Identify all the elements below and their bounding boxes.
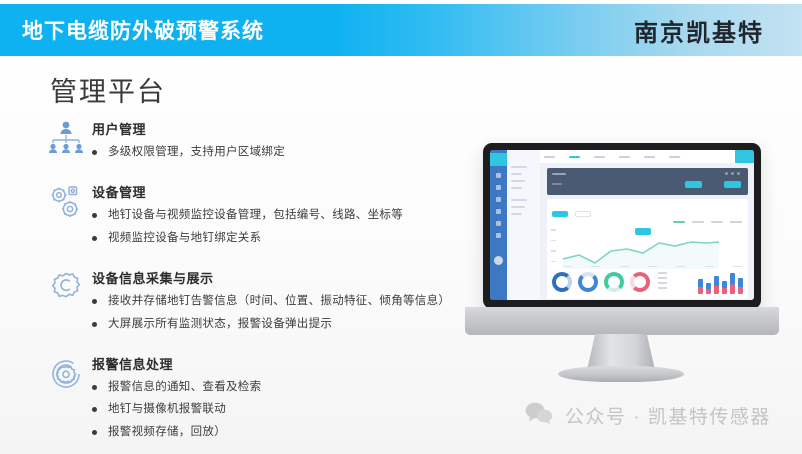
bullet-item: 地钉与摄像机报警联动 — [92, 402, 480, 416]
dashboard-banner — [547, 168, 748, 195]
topbar-title — [544, 156, 555, 158]
topbar-tab — [619, 156, 630, 158]
submenu-item — [511, 187, 522, 189]
sidebar-nav-icon — [496, 221, 501, 226]
banner-button — [724, 181, 741, 188]
submenu-item — [511, 213, 522, 215]
donut-chart — [578, 272, 598, 292]
submenu-item — [511, 180, 525, 182]
wechat-icon — [524, 401, 554, 430]
bullet-text: 地钉设备与视频监控设备管理，包括编号、线路、坐标等 — [108, 208, 403, 222]
chart-tab — [575, 211, 591, 217]
banner-line — [552, 183, 562, 185]
dashboard-submenu — [507, 150, 540, 300]
bullet-dot-icon — [92, 213, 97, 218]
sidebar-nav-icon — [496, 173, 501, 178]
bullet-item: 多级权限管理，支持用户区域绑定 — [92, 145, 480, 159]
monitor-chin — [465, 307, 779, 335]
bullet-dot-icon — [92, 407, 97, 412]
chart-y-axis — [551, 229, 556, 271]
feature-heading: 设备信息采集与展示 — [92, 268, 480, 287]
donut-chart — [604, 272, 624, 292]
dashboard-chart-card — [547, 199, 748, 299]
page-title: 管理平台 — [50, 70, 166, 109]
bullet-dot-icon — [92, 385, 97, 390]
kpi-legend — [658, 272, 667, 292]
sidebar-nav-icon — [496, 197, 501, 202]
chart-legend — [673, 221, 742, 223]
submenu-item — [511, 206, 525, 208]
slide-root: 地下电缆防外破预警系统 南京凯基特 管理平台 — [0, 0, 802, 454]
chart-tooltip — [635, 228, 651, 235]
feature-item-data-collection: 设备信息采集与展示 接收并存储地钉告警信息（时间、位置、振动特征、倾角等信息） … — [40, 267, 480, 339]
feature-body: 设备信息采集与展示 接收并存储地钉告警信息（时间、位置、振动特征、倾角等信息） … — [92, 267, 480, 339]
monitor-stand-base — [558, 366, 684, 382]
line-chart — [561, 229, 721, 269]
monitor-stand-neck — [587, 334, 655, 370]
banner-dots-icon — [725, 172, 740, 175]
sidebar-nav-icon — [496, 233, 501, 238]
single-gear-icon — [40, 267, 92, 313]
bullet-text: 多级权限管理，支持用户区域绑定 — [108, 145, 285, 159]
dashboard-main — [540, 150, 754, 300]
submenu-item — [511, 199, 527, 201]
header-brand: 南京凯基特 — [634, 13, 764, 48]
feature-body: 设备管理 地钉设备与视频监控设备管理，包括编号、线路、坐标等 视频监控设备与地钉… — [92, 181, 480, 253]
bullet-item: 接收并存储地钉告警信息（时间、位置、振动特征、倾角等信息） — [92, 294, 480, 308]
bullet-item: 视频监控设备与地钉绑定关系 — [92, 231, 480, 245]
bullet-text: 报警视频存储，回放） — [108, 425, 226, 439]
feature-list: 用户管理 多级权限管理，支持用户区域绑定 — [40, 118, 480, 454]
sidebar-nav-icon — [496, 209, 501, 214]
bullet-text: 接收并存储地钉告警信息（时间、位置、振动特征、倾角等信息） — [108, 294, 450, 308]
monitor-bezel — [483, 143, 761, 309]
feature-item-alarm-processing: 报警信息处理 报警信息的通知、查看及检索 地钉与摄像机报警联动 报警视频存储，回… — [40, 353, 480, 447]
bullet-text: 视频监控设备与地钉绑定关系 — [108, 231, 261, 245]
bullet-text: 大屏展示所有监测状态，报警设备弹出提示 — [108, 317, 332, 331]
bullet-dot-icon — [92, 430, 97, 435]
dashboard-sidebar — [490, 150, 507, 300]
bullet-item: 地钉设备与视频监控设备管理，包括编号、线路、坐标等 — [92, 208, 480, 222]
header-bar: 地下电缆防外破预警系统 南京凯基特 — [0, 4, 802, 56]
sidebar-nav-icon — [496, 185, 501, 190]
donut-chart — [552, 272, 572, 292]
chart-tab-active — [552, 211, 568, 217]
dashboard-topbar — [540, 150, 754, 163]
bar-chart — [698, 270, 743, 294]
submenu-item — [511, 173, 522, 175]
bullet-item: 大屏展示所有监测状态，报警设备弹出提示 — [92, 317, 480, 331]
bullet-dot-icon — [92, 236, 97, 241]
feature-heading: 设备管理 — [92, 182, 480, 201]
feature-heading: 报警信息处理 — [92, 354, 480, 373]
dashboard-logo-tile — [490, 153, 507, 166]
org-chart-users-icon — [40, 118, 92, 164]
wechat-footer: 公众号 · 凯基特传感器 — [524, 401, 771, 430]
banner-line — [552, 173, 566, 175]
feature-item-user-management: 用户管理 多级权限管理，支持用户区域绑定 — [40, 118, 480, 167]
gear-in-circle-icon — [40, 353, 92, 399]
topbar-tab — [669, 156, 680, 158]
submenu-item — [511, 166, 527, 168]
three-gears-icon — [40, 181, 92, 227]
monitor-screen — [490, 150, 754, 300]
bullet-dot-icon — [92, 322, 97, 327]
topbar-tab — [594, 156, 605, 158]
feature-body: 报警信息处理 报警信息的通知、查看及检索 地钉与摄像机报警联动 报警视频存储，回… — [92, 353, 480, 447]
topbar-tab — [644, 156, 655, 158]
bullet-text: 报警信息的通知、查看及检索 — [108, 380, 261, 394]
bullet-text: 地钉与摄像机报警联动 — [108, 402, 226, 416]
dashboard-kpi-row — [552, 269, 743, 295]
bullet-dot-icon — [92, 150, 97, 155]
banner-button — [685, 181, 702, 188]
topbar-action-button — [735, 150, 754, 163]
bullet-dot-icon — [92, 299, 97, 304]
feature-item-device-management: 设备管理 地钉设备与视频监控设备管理，包括编号、线路、坐标等 视频监控设备与地钉… — [40, 181, 480, 253]
wechat-label: 公众号 · 凯基特传感器 — [565, 402, 771, 429]
bullet-item: 报警视频存储，回放） — [92, 425, 480, 439]
donut-chart — [630, 272, 650, 292]
chart-x-axis — [563, 266, 742, 268]
feature-body: 用户管理 多级权限管理，支持用户区域绑定 — [92, 118, 480, 167]
topbar-tab-active — [569, 156, 580, 158]
feature-heading: 用户管理 — [92, 119, 480, 138]
bullet-item: 报警信息的通知、查看及检索 — [92, 380, 480, 394]
sidebar-avatar — [494, 256, 503, 265]
header-title: 地下电缆防外破预警系统 — [22, 15, 264, 45]
